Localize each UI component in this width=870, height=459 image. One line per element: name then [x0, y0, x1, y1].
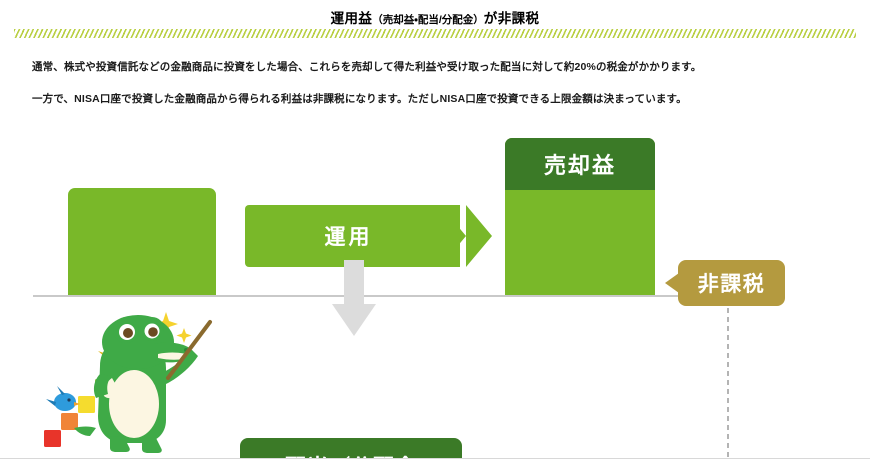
arrow-down-shaft: [344, 260, 364, 306]
bar-principal-final: 売却益: [505, 138, 655, 295]
badge-tax-free-capital-gain: 非課税: [678, 260, 785, 306]
paragraph-nisa-explanation: 一方で、NISA口座で投資した金融商品から得られる利益は非課税になります。ただし…: [32, 92, 687, 108]
chevron-right-icon-2: [466, 205, 492, 267]
process-arrow-investment: 運用: [245, 205, 460, 267]
page-title-sub: （売却益・配当/分配金）: [372, 14, 484, 26]
dividend-label: 配当／分配金: [285, 451, 417, 459]
page-title-main-2: が非課税: [484, 11, 540, 26]
page-title: 運用益（売却益・配当/分配金）が非課税: [0, 7, 870, 27]
chevron-right-icon: [440, 205, 466, 267]
dashed-connector-vertical: [727, 308, 729, 459]
diagram-area: 売却益 運用 配当／分配金 非課税 非課税: [0, 120, 870, 459]
bar-principal-initial: [68, 188, 216, 295]
paragraph-taxable-explanation: 通常、株式や投資信託などの金融商品に投資をした場合、これらを売却して得た利益や受…: [32, 60, 701, 76]
capital-gain-label: 売却益: [544, 148, 616, 180]
process-arrow-label: 運用: [325, 221, 373, 251]
page-title-main-1: 運用益: [331, 11, 373, 26]
arrow-down-head: [332, 304, 376, 336]
tax-free-label-top: 非課税: [698, 268, 766, 298]
arrow-down-icon: [332, 260, 376, 336]
crocodile-mascot-icon: [38, 302, 214, 454]
bubble-tail-left-icon: [665, 273, 679, 293]
infographic-page: 運用益（売却益・配当/分配金）が非課税 通常、株式や投資信託などの金融商品に投資…: [0, 0, 870, 459]
striped-divider: [14, 29, 856, 38]
bar-segment-capital-gain: 売却益: [505, 138, 655, 190]
box-dividend: 配当／分配金: [240, 438, 462, 459]
